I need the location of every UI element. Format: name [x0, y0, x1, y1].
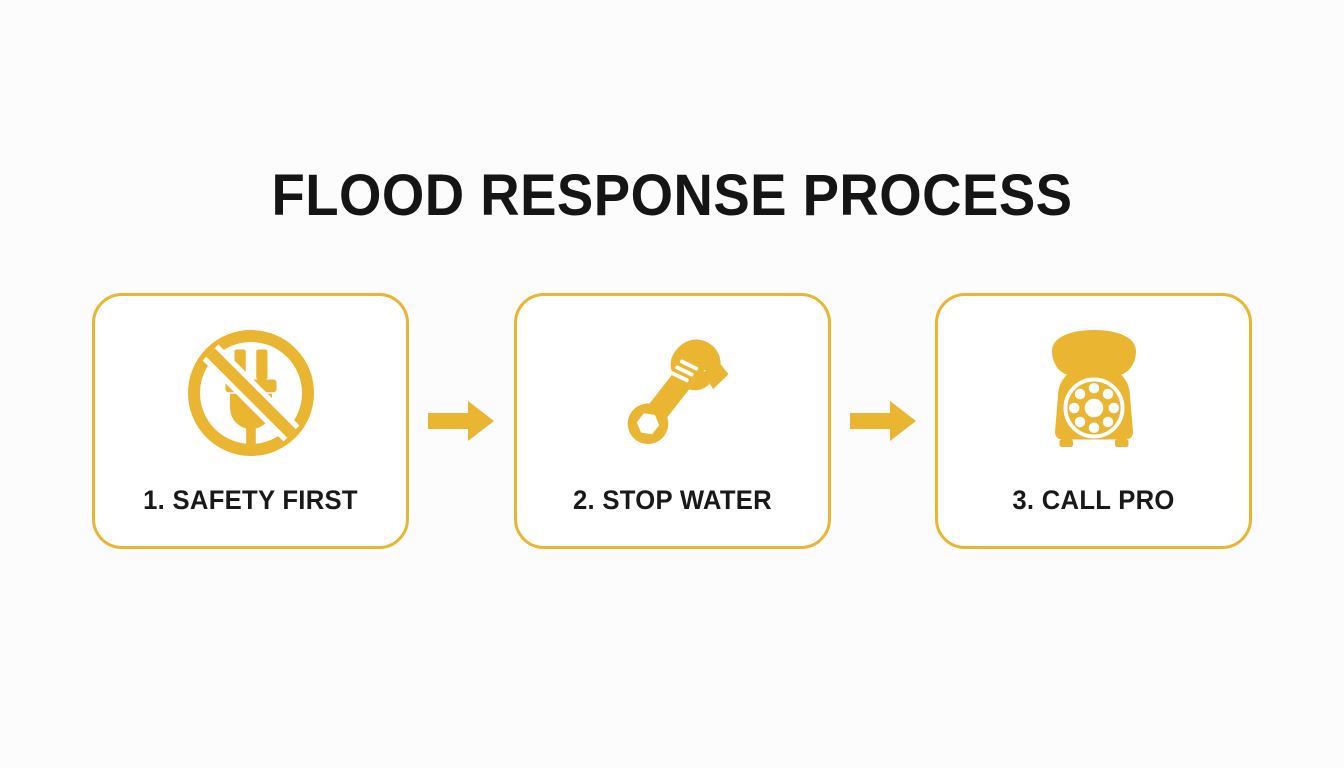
process-flow: 1. SAFETY FIRST	[92, 293, 1252, 549]
flood-response-process-slide: FLOOD RESPONSE PROCESS	[0, 0, 1344, 768]
process-step-label-1: 1. SAFETY FIRST	[103, 487, 398, 514]
process-step-card-2[interactable]: 2. STOP WATER	[514, 293, 831, 549]
no-electric-plug-icon	[176, 318, 326, 468]
process-step-card-1[interactable]: 1. SAFETY FIRST	[92, 293, 409, 549]
adjustable-wrench-icon	[597, 318, 747, 468]
process-step-card-3[interactable]: 3. CALL PRO	[935, 293, 1252, 549]
page-title: FLOOD RESPONSE PROCESS	[40, 167, 1303, 225]
process-step-label-3: 3. CALL PRO	[946, 487, 1241, 514]
rotary-telephone-icon	[1019, 318, 1169, 468]
arrow-right-icon	[426, 395, 496, 447]
process-step-label-2: 2. STOP WATER	[524, 487, 819, 514]
arrow-right-icon	[848, 395, 918, 447]
